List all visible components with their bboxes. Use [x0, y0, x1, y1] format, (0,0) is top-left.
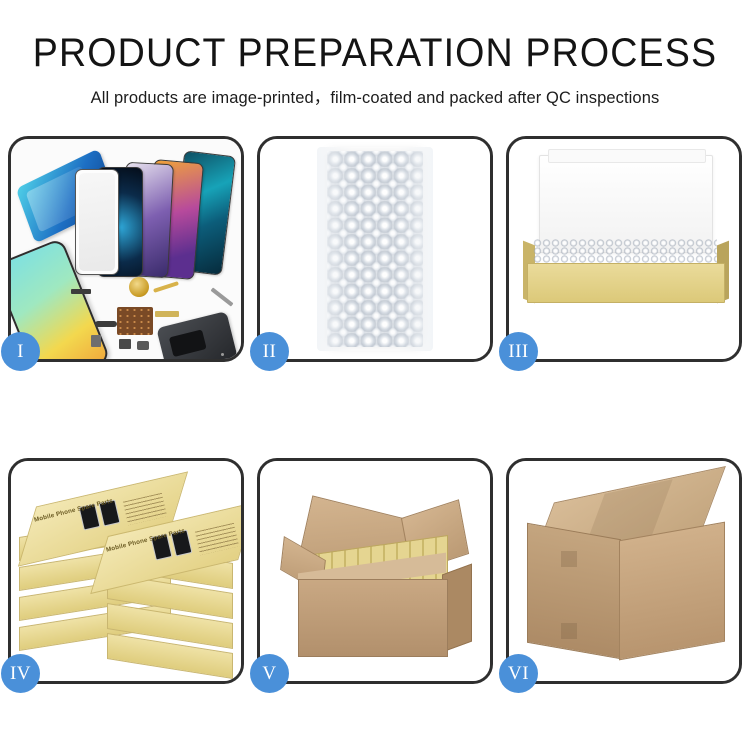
sealed-shipping-carton [527, 487, 723, 659]
page-subtitle: All products are image-printed，film-coat… [0, 84, 750, 108]
carton-hand-hole-bottom [561, 623, 577, 639]
step-card-6: VI [506, 458, 742, 684]
step-card-1: I [8, 136, 244, 362]
step-image-3 [509, 139, 739, 359]
tweezers-tool [211, 287, 234, 306]
carton-front-panel [298, 579, 448, 657]
step-card-5: V [257, 458, 493, 684]
step-image-5 [260, 461, 490, 681]
step-card-4: Mobile Phone Spare Parts Mobile Phone Sp… [8, 458, 244, 684]
page-header: PRODUCT PREPARATION PROCESS All products… [0, 0, 750, 108]
step-image-1 [11, 139, 241, 359]
step-image-2 [260, 139, 490, 359]
page-title: PRODUCT PREPARATION PROCESS [23, 30, 728, 76]
flex-cable-part [95, 321, 117, 327]
phone-display-fan [83, 149, 241, 279]
step-badge-4: IV [1, 654, 40, 693]
open-shipping-carton [284, 501, 470, 651]
process-steps-grid: I II III [8, 136, 742, 684]
step-card-3: III [506, 136, 742, 362]
carton-right-face [619, 522, 725, 661]
step-card-2: II [257, 136, 493, 362]
step-badge-5: V [250, 654, 289, 693]
speaker-part [137, 341, 149, 350]
flex-cable-part-3 [153, 281, 179, 293]
carton-hand-hole-top [561, 551, 577, 567]
screw-part [221, 353, 224, 356]
phone-back-housing [156, 311, 237, 359]
step-badge-6: VI [499, 654, 538, 693]
spare-parts-group [89, 277, 239, 359]
gold-coil-part [129, 277, 149, 297]
connector-part [71, 289, 91, 294]
camera-module-part [119, 339, 131, 349]
step-badge-3: III [499, 332, 538, 371]
step-badge-1: I [1, 332, 40, 371]
bubble-wrap-sheet [327, 151, 423, 347]
retail-box-stack: Mobile Phone Spare Parts Mobile Phone Sp… [19, 479, 233, 671]
step-image-4: Mobile Phone Spare Parts Mobile Phone Sp… [11, 461, 241, 681]
bubble-wrapped-contents [533, 239, 717, 265]
inner-box-front-panel [527, 263, 725, 303]
step-image-6 [509, 461, 739, 681]
circuit-board-part [117, 307, 153, 335]
small-component-part [91, 335, 101, 347]
step-badge-2: II [250, 332, 289, 371]
phone-display-white [75, 169, 119, 275]
flex-cable-part-2 [155, 311, 179, 317]
